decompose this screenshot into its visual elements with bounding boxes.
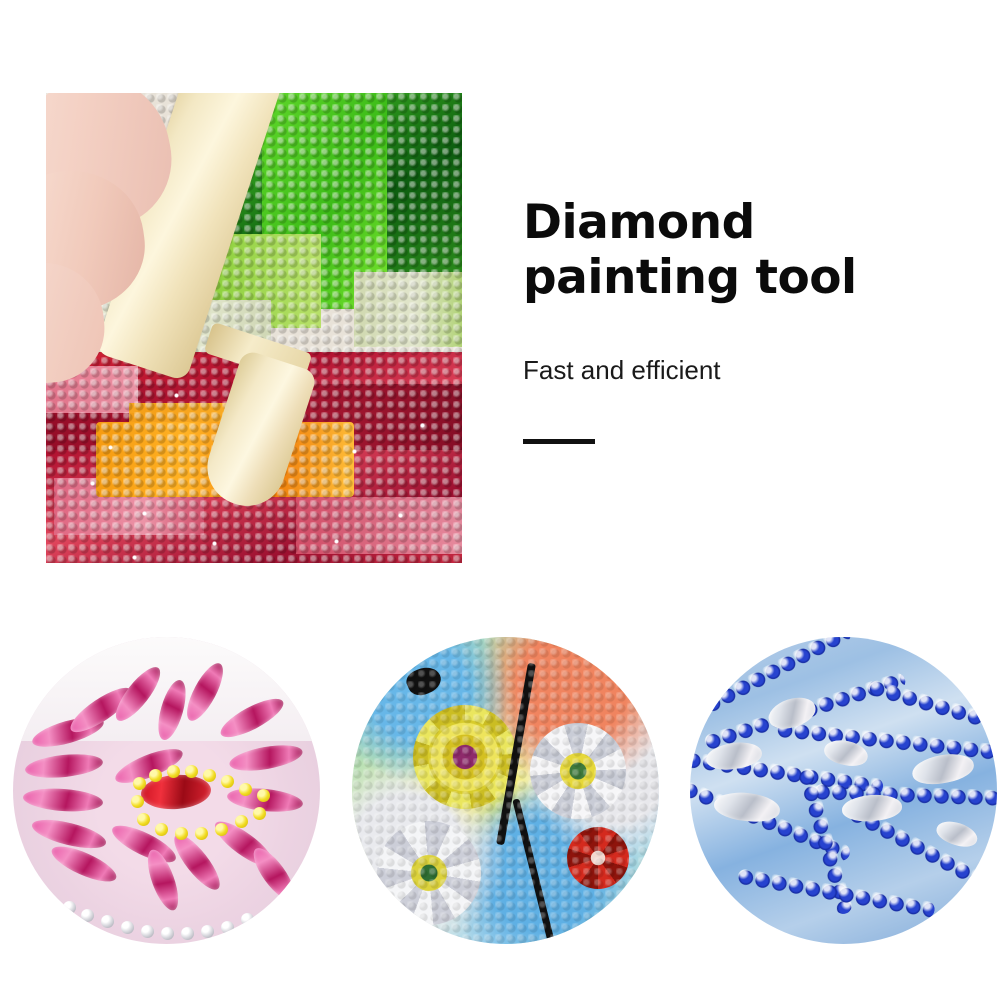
- gallery-item-blue-bead-detail: [690, 637, 997, 944]
- pink-flower-artwork: [13, 637, 320, 944]
- silver-bead: [141, 925, 154, 938]
- yellow-accent-bead: [215, 823, 228, 836]
- pen-and-hand-group: [46, 93, 462, 563]
- silver-bead: [221, 921, 234, 934]
- yellow-accent-bead: [155, 823, 168, 836]
- bead-texture-overlay: [352, 637, 659, 944]
- gallery-item-pink-rhinestone-flower: [13, 637, 320, 944]
- yellow-accent-bead: [167, 765, 180, 778]
- blue-bead-artwork: [690, 637, 997, 944]
- yellow-accent-bead: [253, 807, 266, 820]
- yellow-accent-bead: [131, 795, 144, 808]
- yellow-accent-bead: [185, 765, 198, 778]
- silver-bead: [161, 927, 174, 940]
- silver-bead: [101, 915, 114, 928]
- divider-rule: [523, 439, 595, 444]
- page-title: Diamond painting tool: [523, 196, 963, 305]
- pen-tip: [198, 349, 319, 516]
- silver-bead: [121, 921, 134, 934]
- subtitle: Fast and efficient: [523, 305, 963, 386]
- yellow-accent-bead: [203, 769, 216, 782]
- silver-bead: [81, 909, 94, 922]
- silver-bead: [241, 913, 254, 926]
- silver-bead: [181, 927, 194, 940]
- yellow-accent-bead: [149, 769, 162, 782]
- hero-product-photo: [46, 93, 462, 563]
- yellow-accent-bead: [239, 783, 252, 796]
- yellow-accent-bead: [221, 775, 234, 788]
- marketing-copy: Diamond painting tool Fast and efficient: [523, 196, 963, 444]
- floral-artwork: [352, 637, 659, 944]
- yellow-accent-bead: [133, 777, 146, 790]
- yellow-accent-bead: [257, 789, 270, 802]
- yellow-accent-bead: [235, 815, 248, 828]
- yellow-accent-bead: [175, 827, 188, 840]
- hero-section: Diamond painting tool Fast and efficient: [0, 0, 1001, 600]
- gallery-item-multicolor-floral-art: [352, 637, 659, 944]
- silver-bead: [201, 925, 214, 938]
- yellow-accent-bead: [195, 827, 208, 840]
- yellow-accent-bead: [137, 813, 150, 826]
- silver-bead: [63, 901, 76, 914]
- sample-gallery: [0, 637, 1001, 944]
